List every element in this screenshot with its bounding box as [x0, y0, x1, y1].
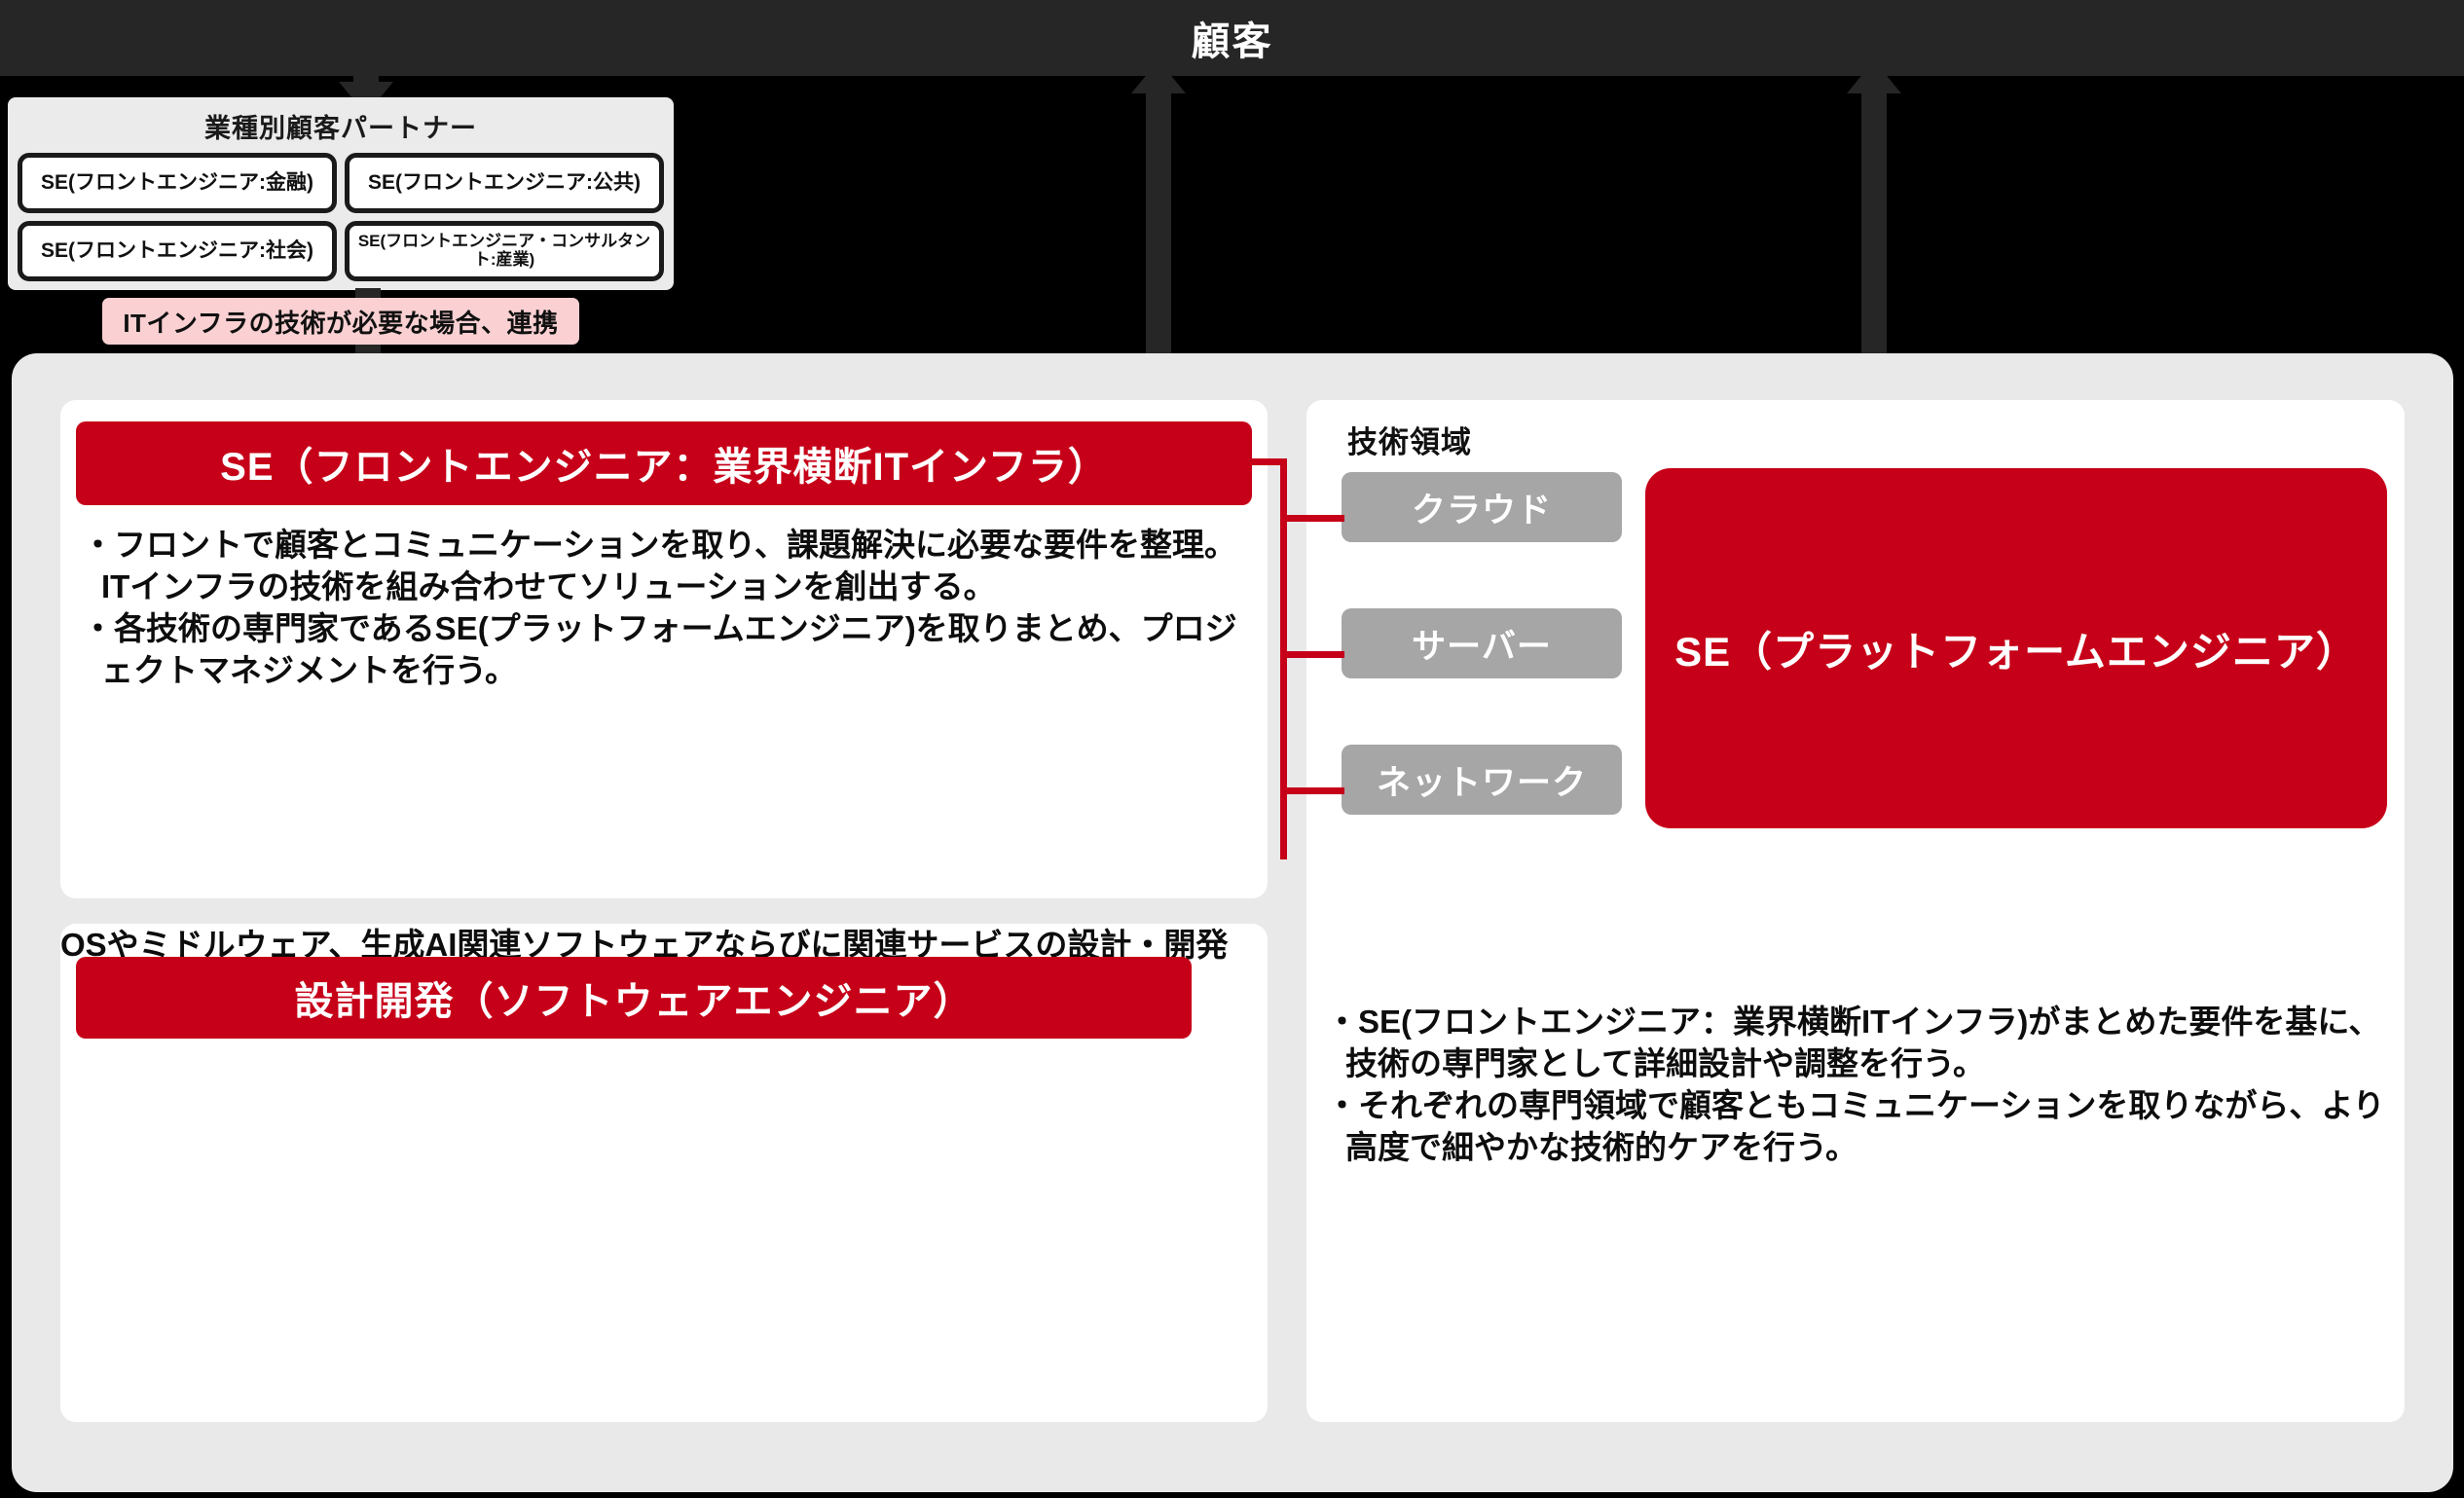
platform-engineer-bullets: ・SE(フロントエンジニア：業界横断ITインフラ)がまとめた要件を基に、技術の専… [1326, 1002, 2397, 1169]
collaboration-badge-label: ITインフラの技術が必要な場合、連携 [123, 304, 558, 340]
diagram-canvas: 顧客 業種別顧客パートナー SE(フロントエンジニア:金融) SE(フロントエン… [0, 0, 2464, 1498]
partner-panel-title: 業種別顧客パートナー [8, 97, 674, 145]
arrowhead-up-icon [1131, 60, 1186, 93]
tech-pill-label: クラウド [1412, 483, 1552, 532]
front-engineer-card: SE（フロントエンジニア：業界横断ITインフラ） ・フロントで顧客とコミュニケー… [60, 400, 1268, 898]
front-engineer-header[interactable]: SE（フロントエンジニア：業界横断ITインフラ） [76, 421, 1252, 505]
front-engineer-header-label: SE（フロントエンジニア：業界横断ITインフラ） [220, 435, 1108, 492]
connector-branch-server [1280, 651, 1344, 658]
connector-branch-network [1280, 787, 1344, 794]
tech-domain-label: 技術領域 [1347, 418, 1472, 461]
platform-engineer-box[interactable]: SE（プラットフォームエンジニア） [1645, 468, 2387, 828]
collaboration-badge: ITインフラの技術が必要な場合、連携 [102, 298, 579, 345]
partner-cell-grid: SE(フロントエンジニア:金融) SE(フロントエンジニア:公共) SE(フロン… [8, 145, 674, 281]
customer-header-title: 顧客 [1192, 10, 1273, 66]
customer-header-bar: 顧客 [0, 0, 2464, 76]
tech-pill-label: ネットワーク [1377, 755, 1587, 805]
partner-cell-label: SE(フロントエンジニア・コンサルタント:産業) [353, 233, 655, 269]
bullet-item: ・それぞれの専門領域で顧客ともコミュニケーションを取りながら、より高度で細やかな… [1326, 1085, 2397, 1169]
design-development-card: 設計開発（ソフトウェアエンジニア） OSやミドルウェア、生成AI関連ソフトウェア… [60, 924, 1268, 1422]
design-development-header-label: 設計開発（ソフトウェアエンジニア） [295, 969, 974, 1026]
platform-engineer-card: 技術領域 クラウド サーバー ネットワーク SE（プラットフォームエンジニア） … [1306, 400, 2405, 1422]
tech-pill-server[interactable]: サーバー [1342, 608, 1622, 678]
bullet-item: ・SE(フロントエンジニア：業界横断ITインフラ)がまとめた要件を基に、技術の専… [1326, 1002, 2397, 1085]
front-engineer-bullets: ・フロントで顧客とコミュニケーションを取り、課題解決に必要な要件を整理。ITイン… [82, 525, 1250, 692]
internal-org-container: SE（フロントエンジニア：業界横断ITインフラ） ・フロントで顧客とコミュニケー… [12, 353, 2453, 1492]
tech-pill-label: サーバー [1412, 619, 1552, 669]
bullet-item: ・各技術の専門家であるSE(プラットフォームエンジニア)を取りまとめ、プロジェク… [82, 608, 1250, 692]
partner-cell-social[interactable]: SE(フロントエンジニア:社会) [18, 221, 337, 281]
partner-cell-label: SE(フロントエンジニア:公共) [368, 171, 641, 194]
tech-pill-cloud[interactable]: クラウド [1342, 472, 1622, 542]
platform-engineer-box-label: SE（プラットフォームエンジニア） [1674, 619, 2358, 678]
bullet-item: ・フロントで顧客とコミュニケーションを取り、課題解決に必要な要件を整理。ITイン… [82, 525, 1250, 608]
tech-pill-network[interactable]: ネットワーク [1342, 745, 1622, 815]
industry-partner-panel: 業種別顧客パートナー SE(フロントエンジニア:金融) SE(フロントエンジニア… [8, 97, 674, 290]
connector-branch-cloud [1280, 515, 1344, 522]
design-development-header[interactable]: 設計開発（ソフトウェアエンジニア） [76, 957, 1192, 1039]
partner-cell-finance[interactable]: SE(フロントエンジニア:金融) [18, 153, 337, 213]
partner-cell-label: SE(フロントエンジニア:金融) [41, 171, 313, 194]
partner-cell-public[interactable]: SE(フロントエンジニア:公共) [345, 153, 664, 213]
arrowhead-up-icon [1847, 60, 1901, 93]
partner-cell-label: SE(フロントエンジニア:社会) [41, 239, 313, 262]
partner-cell-industry[interactable]: SE(フロントエンジニア・コンサルタント:産業) [345, 221, 664, 281]
